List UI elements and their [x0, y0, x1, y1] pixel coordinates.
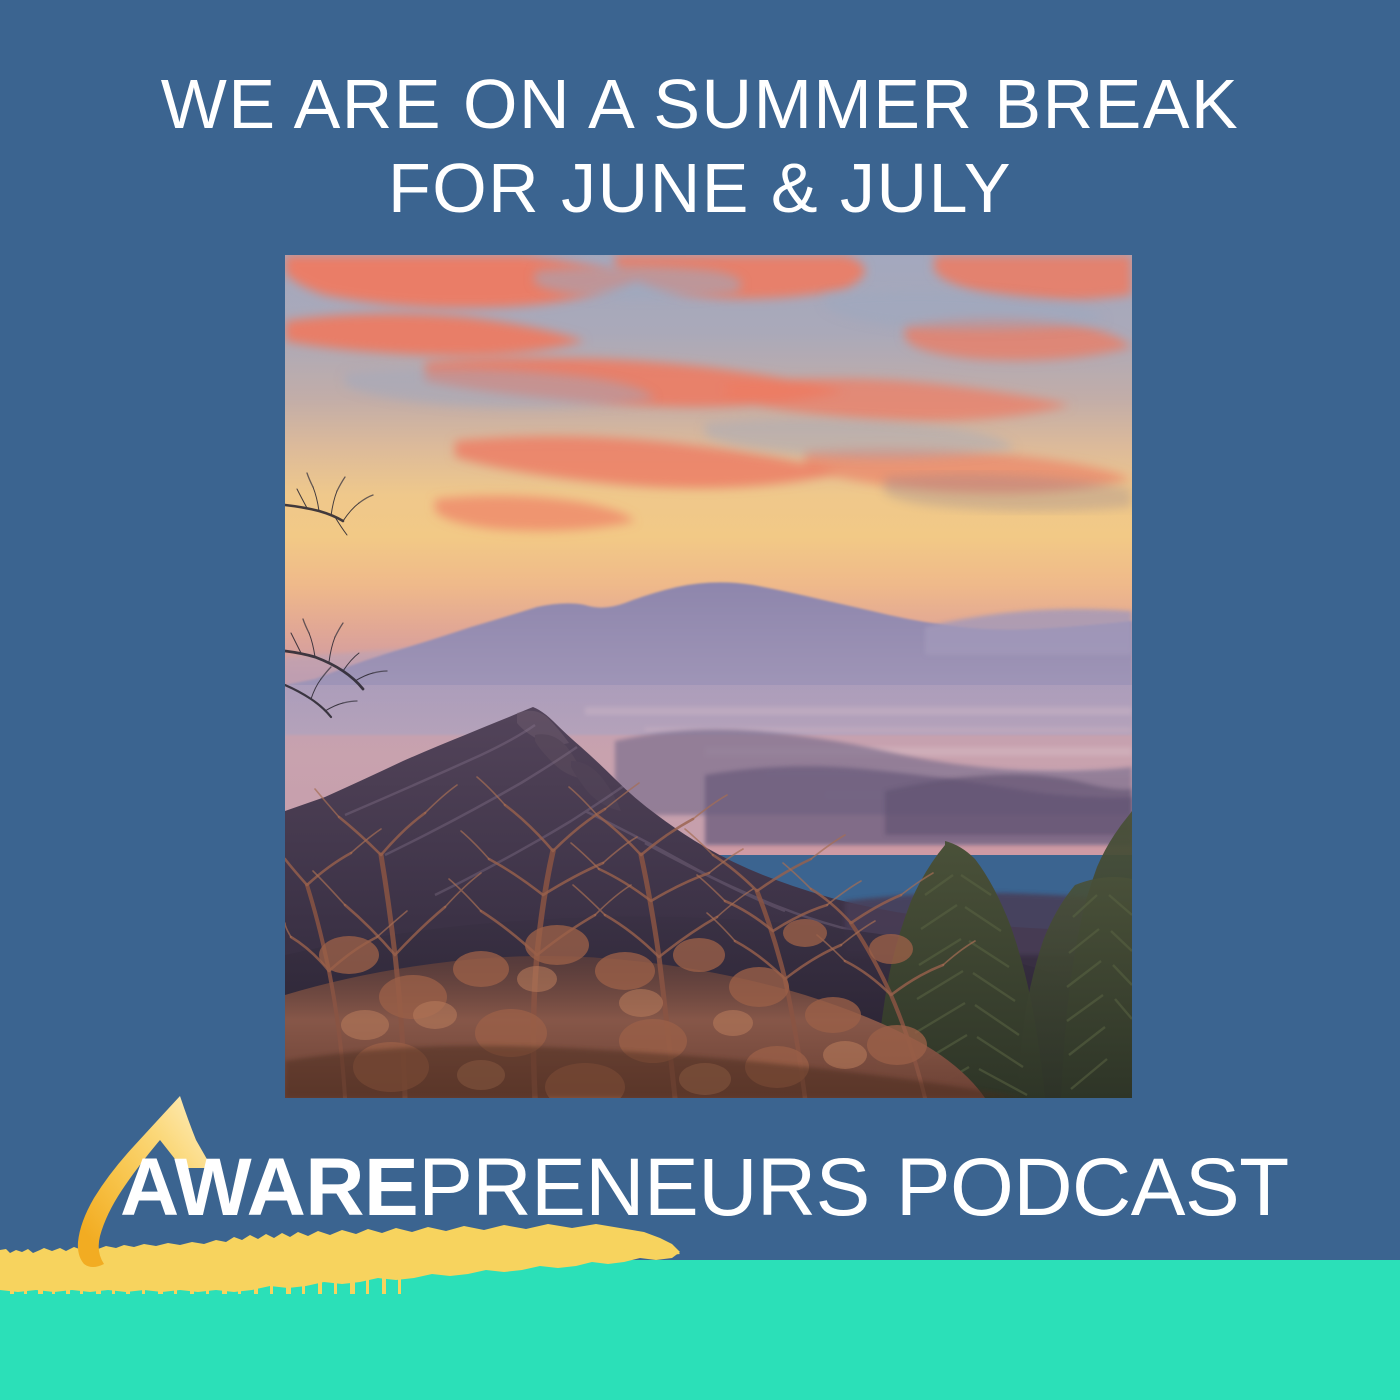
podcast-cover-art: WE ARE ON A SUMMER BREAK FOR JUNE & JULY [0, 0, 1400, 1400]
wordmark-preneurs: PRENEURS [418, 1148, 870, 1228]
awarepreneurs-podcast-wordmark: AWARE PRENEURS PODCAST [120, 1148, 1289, 1228]
wordmark-aware: AWARE [120, 1148, 418, 1228]
announcement-headline: WE ARE ON A SUMMER BREAK FOR JUNE & JULY [0, 62, 1400, 230]
wordmark-podcast: PODCAST [896, 1148, 1289, 1228]
sunset-mountain-photo [285, 255, 1132, 1098]
